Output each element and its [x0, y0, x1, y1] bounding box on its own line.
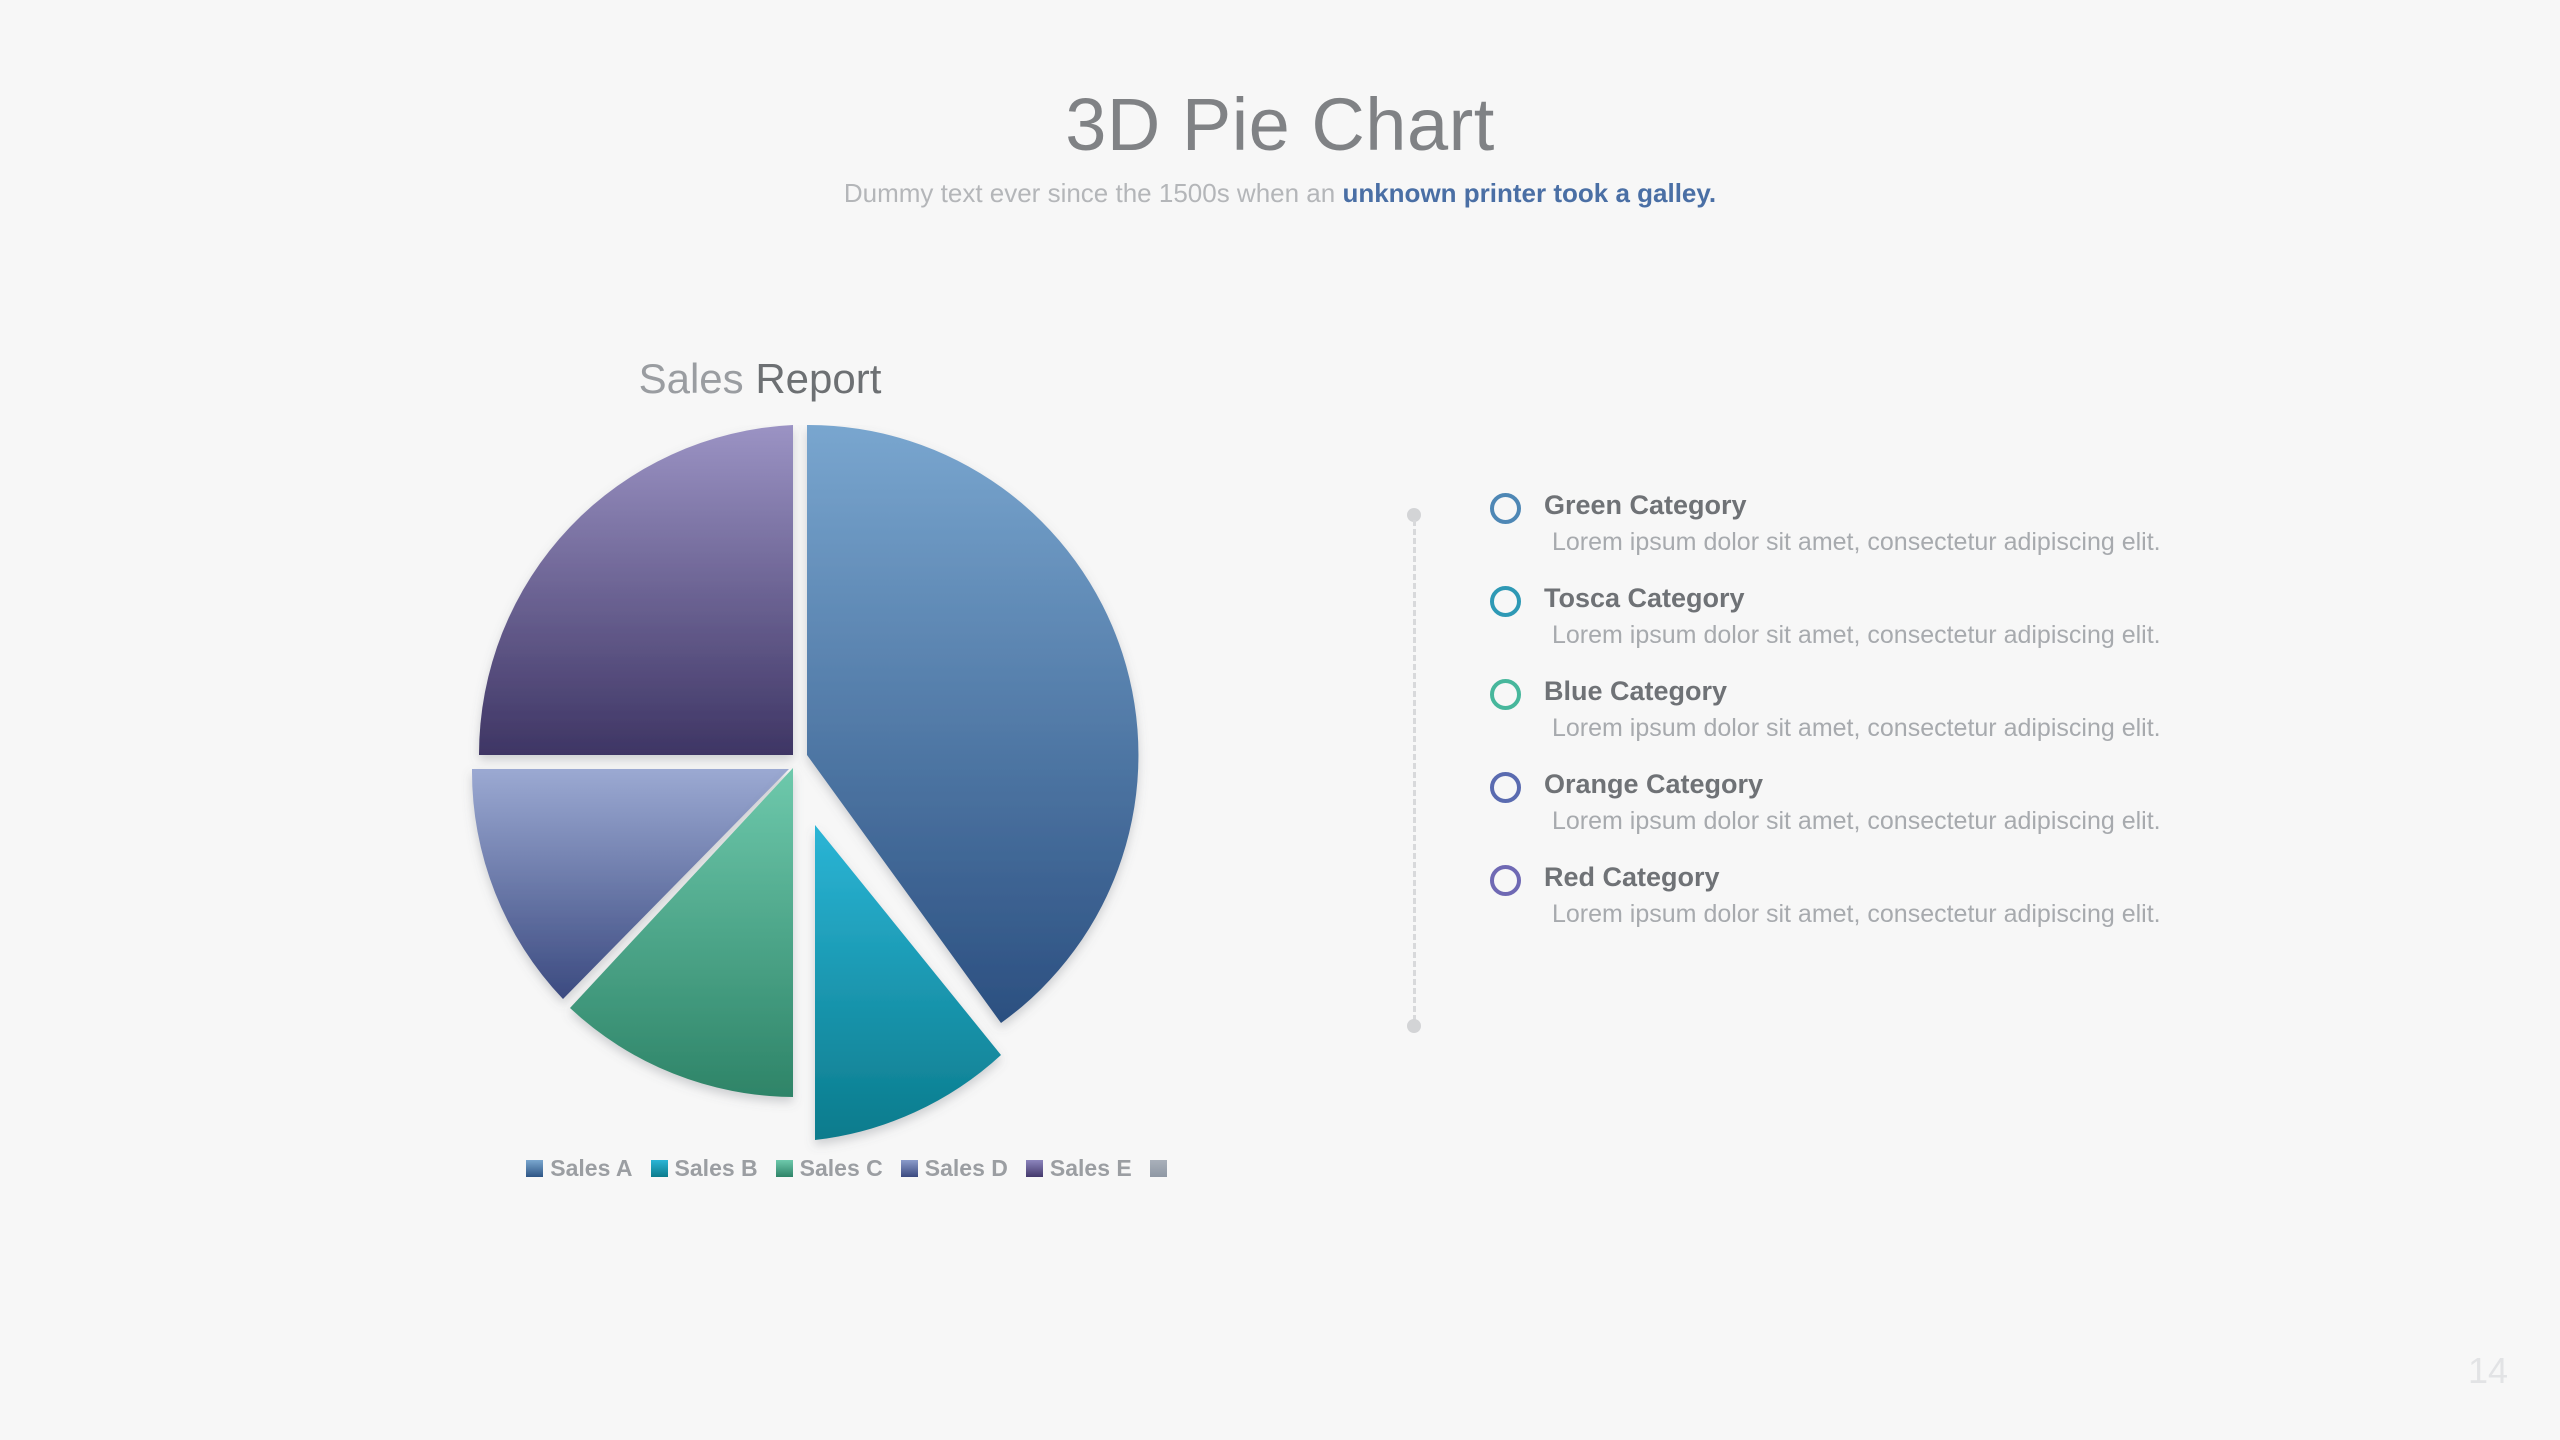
ring-icon: [1490, 772, 1521, 803]
category-name: Tosca Category: [1544, 583, 2161, 614]
legend-label-sales-e: Sales E: [1050, 1155, 1132, 1182]
category-description: Lorem ipsum dolor sit amet, consectetur …: [1552, 713, 2161, 743]
pie-chart: [400, 425, 1300, 1165]
chart-title: Sales Report: [480, 355, 1040, 403]
ring-icon: [1490, 493, 1521, 524]
category-description: Lorem ipsum dolor sit amet, consectetur …: [1552, 620, 2161, 650]
category-text: Blue Category Lorem ipsum dolor sit amet…: [1544, 676, 2161, 743]
category-name: Red Category: [1544, 862, 2161, 893]
category-item-red[interactable]: Red Category Lorem ipsum dolor sit amet,…: [1490, 862, 2390, 929]
chart-panel: Sales Report: [400, 355, 1300, 1215]
legend-swatch-sales-d: [901, 1160, 918, 1177]
legend-item-sales-d[interactable]: Sales D: [901, 1155, 1008, 1182]
page-subtitle: Dummy text ever since the 1500s when an …: [0, 178, 2560, 209]
category-list: Green Category Lorem ipsum dolor sit ame…: [1490, 490, 2390, 955]
legend-swatch-extra: [1150, 1160, 1167, 1177]
category-item-blue[interactable]: Blue Category Lorem ipsum dolor sit amet…: [1490, 676, 2390, 743]
category-description: Lorem ipsum dolor sit amet, consectetur …: [1552, 806, 2161, 836]
chart-title-strong: Report: [755, 355, 881, 402]
timeline-connector: [1405, 508, 1423, 1033]
category-name: Green Category: [1544, 490, 2161, 521]
timeline-dashed-line: [1413, 520, 1416, 1021]
legend-item-sales-b[interactable]: Sales B: [651, 1155, 758, 1182]
legend-swatch-sales-b: [651, 1160, 668, 1177]
timeline-dot-bottom: [1407, 1019, 1421, 1033]
legend-item-sales-a[interactable]: Sales A: [526, 1155, 632, 1182]
category-text: Red Category Lorem ipsum dolor sit amet,…: [1544, 862, 2161, 929]
page-subtitle-plain: Dummy text ever since the 1500s when an: [844, 178, 1343, 208]
category-text: Green Category Lorem ipsum dolor sit ame…: [1544, 490, 2161, 557]
category-item-green[interactable]: Green Category Lorem ipsum dolor sit ame…: [1490, 490, 2390, 557]
chart-title-light: Sales: [639, 355, 756, 402]
category-text: Orange Category Lorem ipsum dolor sit am…: [1544, 769, 2161, 836]
page-number: 14: [2468, 1350, 2508, 1392]
legend-item-extra[interactable]: [1150, 1160, 1174, 1177]
ring-icon: [1490, 679, 1521, 710]
legend-label-sales-d: Sales D: [925, 1155, 1008, 1182]
ring-icon: [1490, 586, 1521, 617]
pie-legend: Sales A Sales B Sales C Sales D Sales E: [400, 1155, 1300, 1182]
legend-swatch-sales-a: [526, 1160, 543, 1177]
category-text: Tosca Category Lorem ipsum dolor sit ame…: [1544, 583, 2161, 650]
category-description: Lorem ipsum dolor sit amet, consectetur …: [1552, 899, 2161, 929]
category-item-tosca[interactable]: Tosca Category Lorem ipsum dolor sit ame…: [1490, 583, 2390, 650]
legend-label-sales-c: Sales C: [800, 1155, 883, 1182]
page-title: 3D Pie Chart: [0, 86, 2560, 164]
category-description: Lorem ipsum dolor sit amet, consectetur …: [1552, 527, 2161, 557]
category-panel: Green Category Lorem ipsum dolor sit ame…: [1400, 490, 2400, 1050]
page-header: 3D Pie Chart Dummy text ever since the 1…: [0, 86, 2560, 209]
pie-slice-sales-e[interactable]: [479, 425, 793, 755]
category-name: Orange Category: [1544, 769, 2161, 800]
page-subtitle-link[interactable]: unknown printer took a galley.: [1342, 178, 1716, 208]
legend-label-sales-a: Sales A: [550, 1155, 632, 1182]
pie-chart-svg: [400, 425, 1300, 1165]
legend-swatch-sales-e: [1026, 1160, 1043, 1177]
ring-icon: [1490, 865, 1521, 896]
legend-item-sales-e[interactable]: Sales E: [1026, 1155, 1132, 1182]
legend-label-sales-b: Sales B: [675, 1155, 758, 1182]
legend-swatch-sales-c: [776, 1160, 793, 1177]
category-name: Blue Category: [1544, 676, 2161, 707]
category-item-orange[interactable]: Orange Category Lorem ipsum dolor sit am…: [1490, 769, 2390, 836]
legend-item-sales-c[interactable]: Sales C: [776, 1155, 883, 1182]
